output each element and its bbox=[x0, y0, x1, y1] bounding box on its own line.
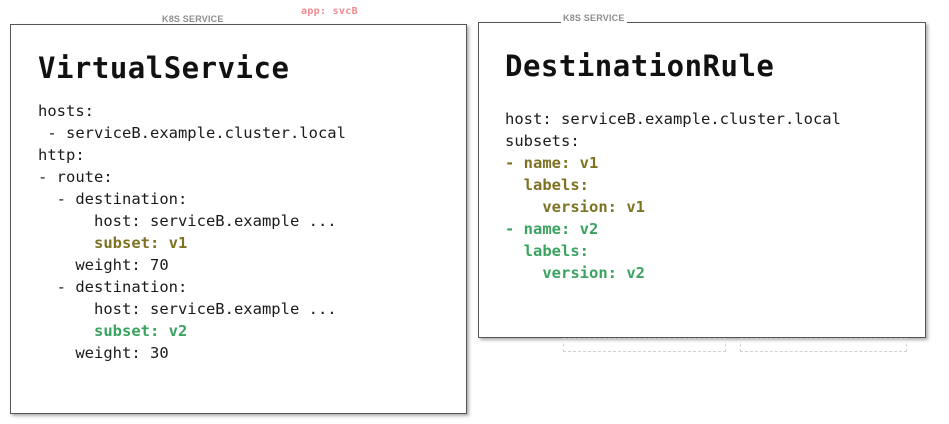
destinationrule-title: DestinationRule bbox=[505, 49, 774, 83]
pod-annotation-label: app: svcB bbox=[301, 6, 358, 17]
yaml-line: hosts: bbox=[38, 100, 448, 122]
virtualservice-yaml: hosts: - serviceB.example.cluster.localh… bbox=[38, 100, 448, 364]
yaml-line: version: v2 bbox=[505, 262, 915, 284]
yaml-line: - route: bbox=[38, 166, 448, 188]
yaml-line: subsets: bbox=[505, 130, 915, 152]
yaml-line: labels: bbox=[505, 240, 915, 262]
destinationrule-yaml: host: serviceB.example.cluster.localsubs… bbox=[505, 108, 915, 284]
yaml-line: subset: v2 bbox=[38, 320, 448, 342]
ghost-boundary-box-right bbox=[740, 338, 907, 352]
yaml-line: - serviceB.example.cluster.local bbox=[38, 122, 448, 144]
yaml-line: host: serviceB.example ... bbox=[38, 298, 448, 320]
yaml-line: http: bbox=[38, 144, 448, 166]
yaml-line: weight: 30 bbox=[38, 342, 448, 364]
yaml-line: subset: v1 bbox=[38, 232, 448, 254]
yaml-line: - destination: bbox=[38, 276, 448, 298]
k8s-service-boundary-label-left: K8S SERVICE bbox=[160, 14, 226, 24]
yaml-line: host: serviceB.example ... bbox=[38, 210, 448, 232]
virtualservice-title: VirtualService bbox=[38, 51, 289, 85]
yaml-line: labels: bbox=[505, 174, 915, 196]
ghost-boundary-box-left bbox=[563, 338, 726, 352]
yaml-line: - name: v1 bbox=[505, 152, 915, 174]
yaml-line: weight: 70 bbox=[38, 254, 448, 276]
yaml-line: - destination: bbox=[38, 188, 448, 210]
yaml-line: - name: v2 bbox=[505, 218, 915, 240]
yaml-line: version: v1 bbox=[505, 196, 915, 218]
yaml-line: host: serviceB.example.cluster.local bbox=[505, 108, 915, 130]
k8s-service-boundary-label-right: K8S SERVICE bbox=[561, 13, 627, 23]
